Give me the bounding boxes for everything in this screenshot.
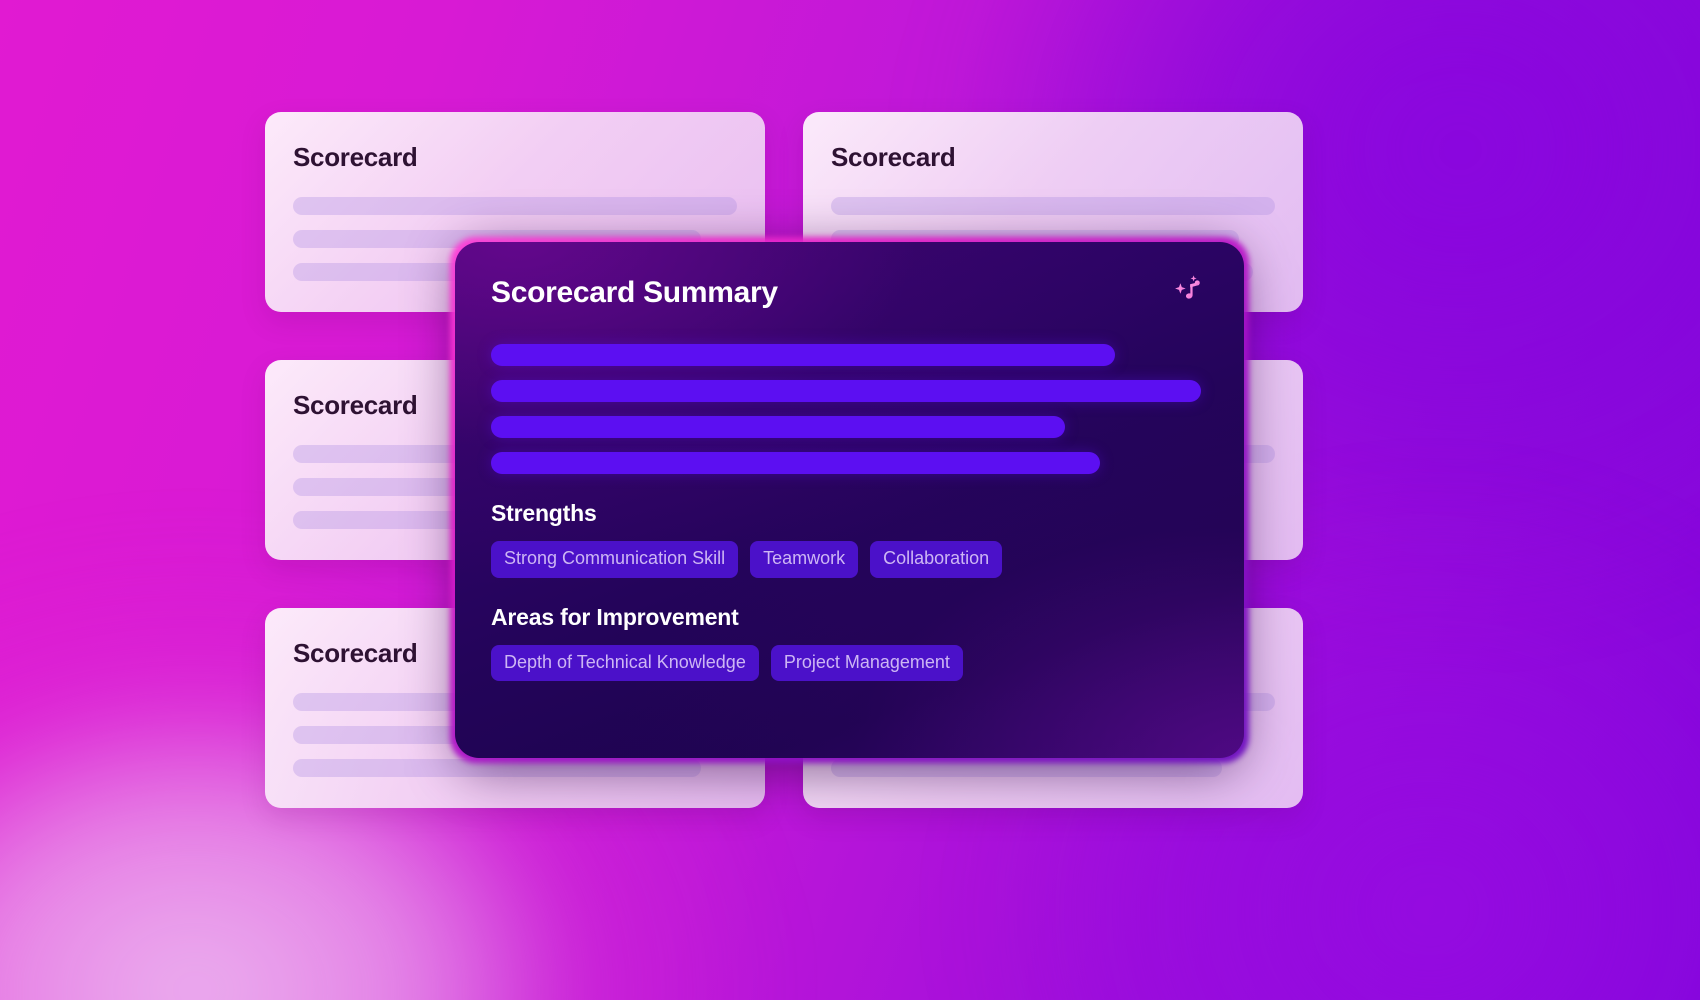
modal-body: Scorecard Summary <box>455 242 1244 758</box>
scorecard-placeholder-line <box>293 197 737 215</box>
scorecard-title: Scorecard <box>831 142 1275 173</box>
modal-title: Scorecard Summary <box>491 276 778 309</box>
scorecard-placeholder-line <box>831 197 1275 215</box>
scorecard-title: Scorecard <box>293 142 737 173</box>
strengths-tag-list: Strong Communication Skill Teamwork Coll… <box>491 541 1208 578</box>
improvements-tag-list: Depth of Technical Knowledge Project Man… <box>491 645 1208 682</box>
scorecard-summary-modal: Scorecard Summary <box>452 239 1247 761</box>
strength-tag[interactable]: Teamwork <box>750 541 858 578</box>
ai-sparkle-music-icon <box>1172 272 1206 306</box>
improvements-heading: Areas for Improvement <box>491 604 1208 631</box>
summary-placeholder-line <box>491 380 1201 402</box>
strength-tag[interactable]: Collaboration <box>870 541 1002 578</box>
summary-placeholder-lines <box>491 344 1208 474</box>
summary-placeholder-line <box>491 452 1100 474</box>
scorecard-summary-illustration: Scorecard Scorecard Scorecard Scorecard … <box>0 0 1700 1000</box>
summary-placeholder-line <box>491 344 1115 366</box>
modal-header: Scorecard Summary <box>491 276 1208 309</box>
strengths-heading: Strengths <box>491 500 1208 527</box>
summary-placeholder-line <box>491 416 1065 438</box>
improvement-tag[interactable]: Project Management <box>771 645 963 682</box>
improvement-tag[interactable]: Depth of Technical Knowledge <box>491 645 759 682</box>
strength-tag[interactable]: Strong Communication Skill <box>491 541 738 578</box>
